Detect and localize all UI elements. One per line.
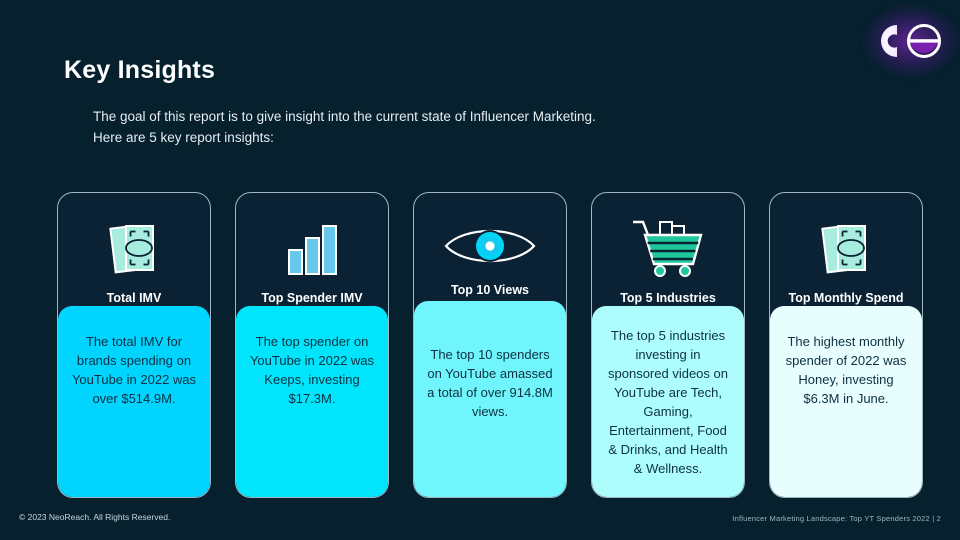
card-body: The top spender on YouTube in 2022 was K… <box>236 306 388 497</box>
footer-copyright: © 2023 NeoReach. All Rights Reserved. <box>19 512 170 522</box>
card-title: Total IMV <box>101 291 168 306</box>
footer-report-label: Influencer Marketing Landscape: Top YT S… <box>732 514 941 523</box>
card-body: The total IMV for brands spending on You… <box>58 306 210 497</box>
card-body-text: The top 5 industries investing in sponso… <box>604 326 732 478</box>
card-title: Top 5 Industries <box>614 291 722 306</box>
card-body-text: The top spender on YouTube in 2022 was K… <box>248 332 376 408</box>
card-title: Top Spender IMV <box>255 291 368 306</box>
card-body: The top 5 industries investing in sponso… <box>592 306 744 497</box>
card-body: The top 10 spenders on YouTube amassed a… <box>414 301 566 497</box>
insight-card-total-imv[interactable]: Total IMV The total IMV for brands spend… <box>57 192 211 498</box>
intro-line-1: The goal of this report is to give insig… <box>93 106 813 127</box>
insight-card-top-spender-imv[interactable]: Top Spender IMV The top spender on YouTu… <box>235 192 389 498</box>
shopping-cart-icon <box>627 207 709 291</box>
card-title: Top 10 Views <box>445 283 535 298</box>
page-title: Key Insights <box>64 56 215 85</box>
insight-card-top-10-views[interactable]: Top 10 Views The top 10 spenders on YouT… <box>413 192 567 498</box>
card-body-text: The top 10 spenders on YouTube amassed a… <box>426 327 554 421</box>
eye-icon <box>442 209 538 283</box>
neoreach-logo <box>876 18 946 64</box>
insight-card-top-monthly-spend[interactable]: Top Monthly Spend The highest monthly sp… <box>769 192 923 498</box>
insight-cards-row: Total IMV The total IMV for brands spend… <box>57 192 913 498</box>
card-body-text: The total IMV for brands spending on You… <box>70 332 198 408</box>
bar-chart-icon <box>281 207 343 291</box>
logo-mark-icon <box>880 24 942 58</box>
intro-line-2: Here are 5 key report insights: <box>93 127 813 148</box>
money-stack-icon <box>107 207 161 291</box>
card-title: Top Monthly Spend <box>782 291 909 306</box>
card-body: The highest monthly spender of 2022 was … <box>770 306 922 497</box>
card-body-text: The highest monthly spender of 2022 was … <box>782 332 910 408</box>
insight-card-top-5-industries[interactable]: Top 5 Industries The top 5 industries in… <box>591 192 745 498</box>
money-stack-icon <box>819 207 873 291</box>
intro-paragraph: The goal of this report is to give insig… <box>93 106 813 148</box>
